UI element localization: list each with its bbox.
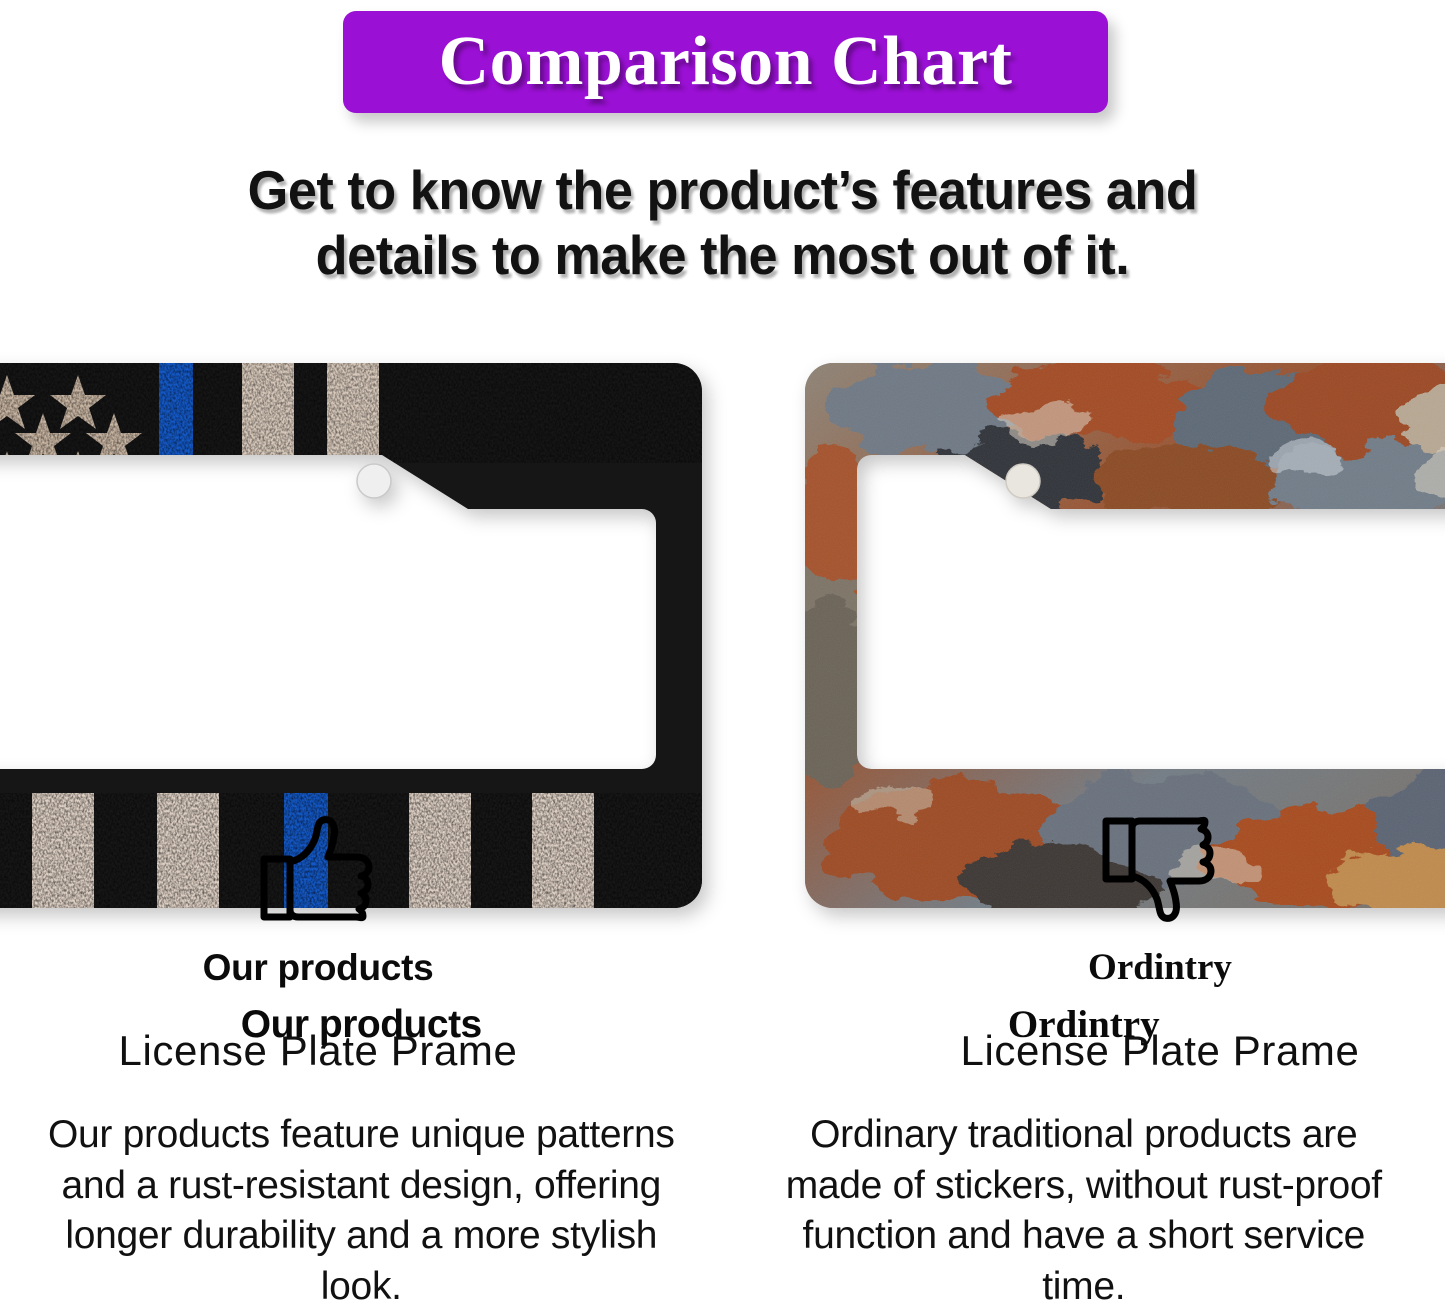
column-body-our-products: Our products feature unique patterns and… [26,1110,697,1313]
subtitle: Get to know the product’s features and d… [36,158,1409,288]
rust-grain-overlay [805,363,1445,908]
column-body-ordintry: Ordinary traditional products are made o… [749,1110,1420,1313]
product-image-ordintry [805,363,1445,908]
subtitle-line-1: Get to know the product’s features and [36,158,1409,223]
product-frames-row: Our products License Plate Prame Ordintr… [0,345,1445,925]
column-heading-our-products: Our products [26,1005,697,1044]
license-plate-frame-rust-svg [805,363,1445,908]
column-heading-ordintry: Ordintry [749,1005,1420,1044]
page-title: Comparison Chart [439,27,1013,97]
flag-bottom-band [0,793,702,908]
description-columns: Our products Our products feature unique… [0,985,1445,1314]
brand-label-ordintry: Ordintry [880,949,1440,986]
description-column-our-products: Our products Our products feature unique… [0,985,723,1314]
title-banner-wrapper: Comparison Chart [343,11,1108,113]
description-column-ordintry: Ordintry Ordinary traditional products a… [723,985,1445,1314]
license-plate-frame-flag-svg [0,363,702,908]
subtitle-line-2: details to make the most out of it. [36,223,1409,288]
title-banner: Comparison Chart [343,11,1108,113]
product-image-our-products [0,363,702,908]
frame-body-flag [0,363,702,908]
frame-body-rust [805,363,1445,908]
brand-label-our-products: Our products [38,949,598,986]
